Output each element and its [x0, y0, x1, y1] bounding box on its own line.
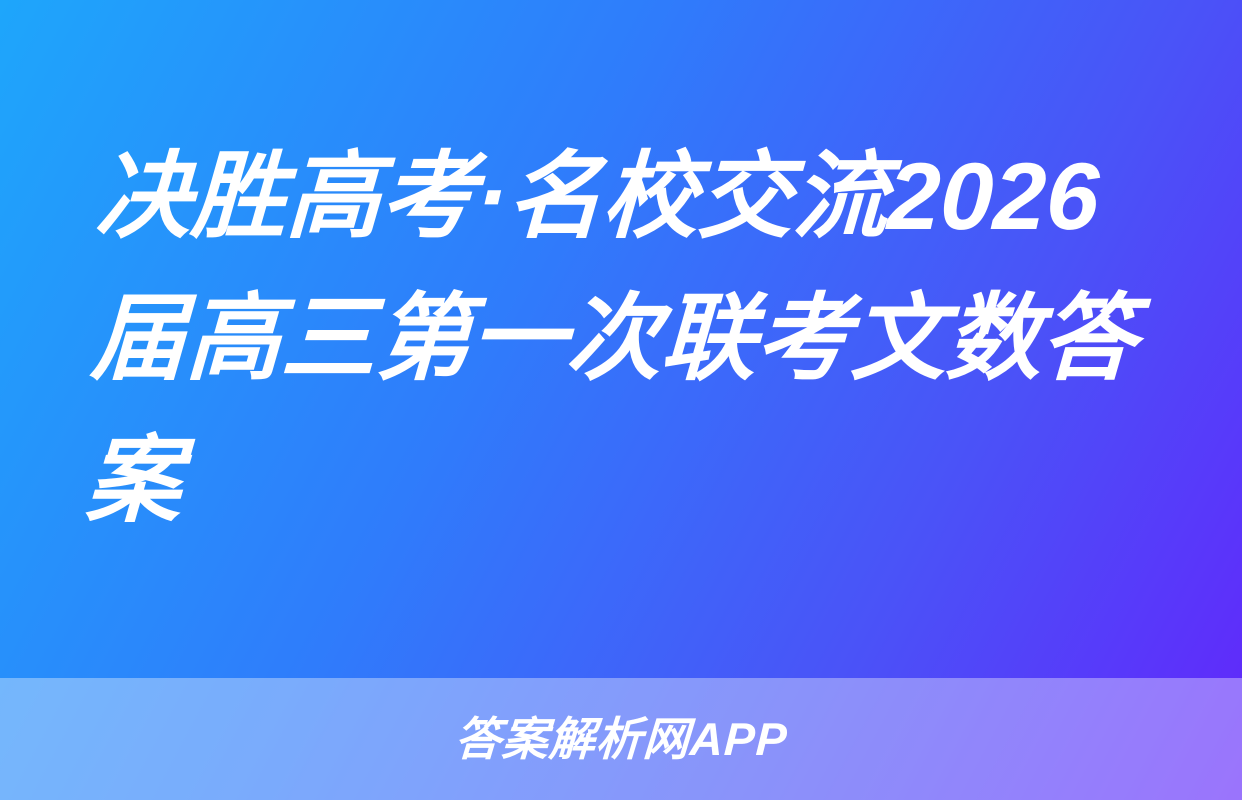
poster-canvas: 决胜高考·名校交流2026届高三第一次联考文数答案 答案解析网APP [0, 0, 1242, 800]
page-title: 决胜高考·名校交流2026届高三第一次联考文数答案 [84, 126, 1159, 552]
app-brand-watermark: 答案解析网APP [453, 716, 788, 762]
title-area: 决胜高考·名校交流2026届高三第一次联考文数答案 [0, 0, 1242, 678]
watermark-band: 答案解析网APP [0, 678, 1242, 800]
